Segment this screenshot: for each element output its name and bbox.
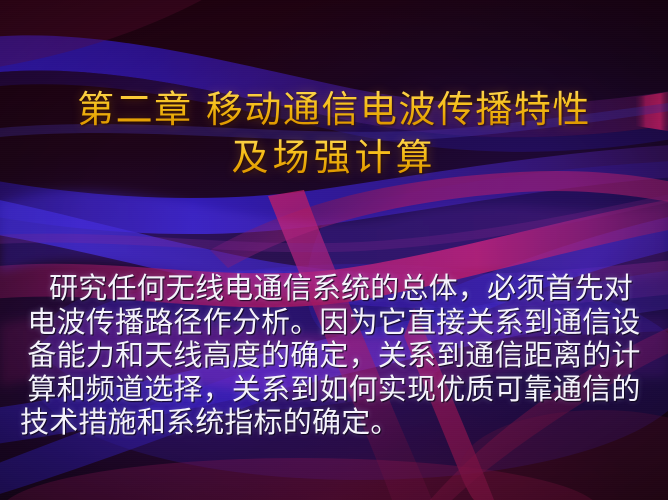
title-line-1: 第二章 移动通信电波传播特性 [0, 86, 668, 134]
body-line-3: 备能力和天线高度的确定，关系到通信距离的计 [6, 339, 662, 373]
body-line-2: 电波传播路径作分析。因为它直接关系到通信设 [6, 306, 662, 340]
title-line-2: 及场强计算 [0, 134, 668, 182]
body-line-1: 研究任何无线电通信系统的总体，必须首先对 [6, 272, 662, 306]
body-line-4: 算和频道选择，关系到如何实现优质可靠通信的 [6, 373, 662, 407]
presentation-slide: 第二章 移动通信电波传播特性 及场强计算 研究任何无线电通信系统的总体，必须首先… [0, 0, 668, 500]
slide-body: 研究任何无线电通信系统的总体，必须首先对 电波传播路径作分析。因为它直接关系到通… [6, 272, 662, 440]
slide-title: 第二章 移动通信电波传播特性 及场强计算 [0, 86, 668, 182]
body-line-5: 技术措施和系统指标的确定。 [6, 406, 662, 440]
